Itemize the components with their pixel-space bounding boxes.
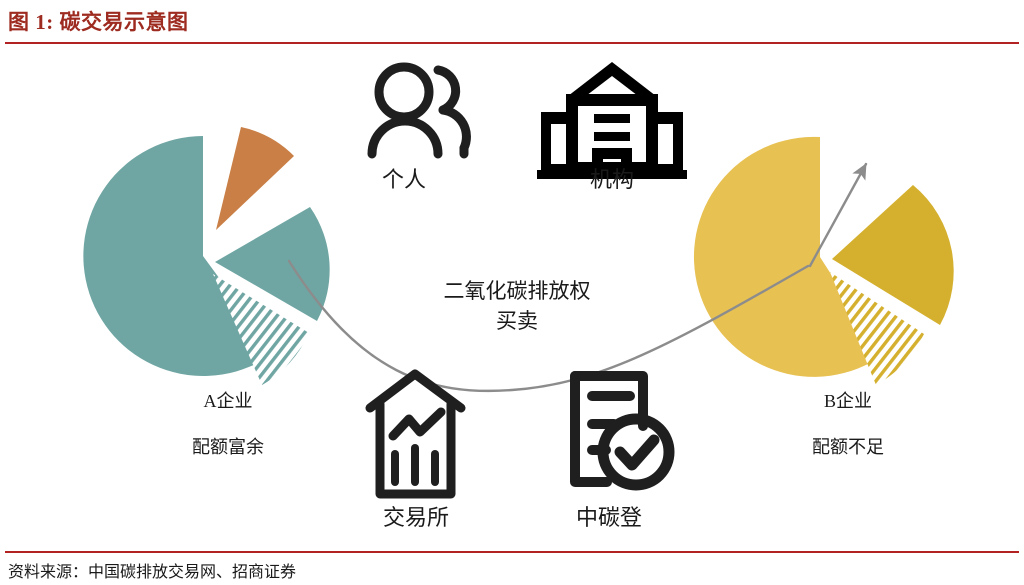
- page-title: 图 1: 碳交易示意图: [8, 6, 189, 36]
- actor-label-registry: 中碳登: [563, 502, 655, 534]
- actor-label-exchange: 交易所: [370, 502, 462, 534]
- left-entity-name: A企业: [152, 388, 304, 414]
- pie-chart-left: [83, 127, 329, 385]
- people-icon: [372, 67, 466, 154]
- actor-label-institution: 机构: [572, 164, 652, 196]
- left-entity-status: 配额富余: [152, 434, 304, 460]
- figure-container: 图 1: 碳交易示意图: [0, 0, 1024, 585]
- right-entity-name: B企业: [772, 388, 924, 414]
- figure-source: 资料来源：中国碳排放交易网、招商证券: [8, 558, 296, 582]
- flow-label: 二氧化碳排放权 买卖: [412, 276, 622, 337]
- flow-label-line1: 二氧化碳排放权: [444, 279, 591, 303]
- institution-building-icon: [537, 62, 687, 179]
- registry-document-check-icon: [575, 376, 669, 485]
- pie-chart-right: [694, 137, 954, 385]
- actor-label-individual: 个人: [364, 164, 444, 196]
- pie-slice-left-orange: [216, 127, 294, 230]
- bottom-divider: [5, 551, 1019, 553]
- flow-label-line2: 买卖: [412, 306, 622, 336]
- diagram-canvas: 个人 机构 交易所 中碳登 二氧化碳排放权 买卖 A企业 配额富余 B企业 配额…: [0, 44, 1024, 549]
- right-entity-status: 配额不足: [772, 434, 924, 460]
- exchange-house-chart-icon: [370, 374, 461, 494]
